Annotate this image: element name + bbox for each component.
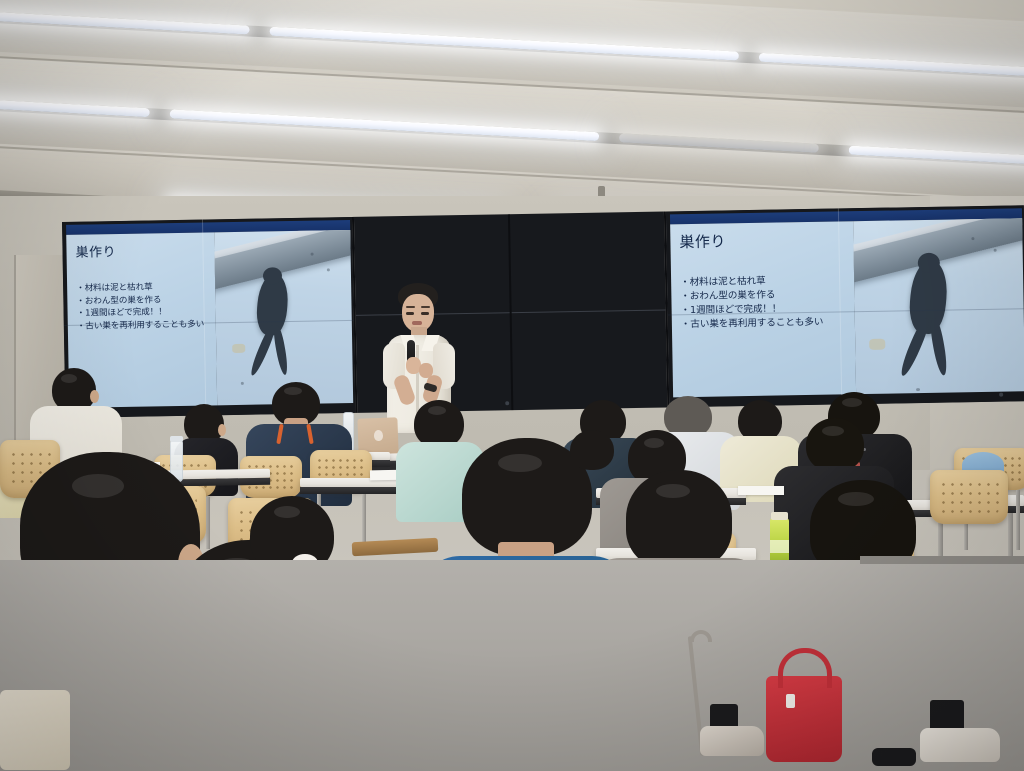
hair-highlight — [644, 438, 664, 448]
person-head — [806, 418, 864, 472]
person-head — [626, 470, 732, 570]
apple-logo-icon — [374, 430, 383, 441]
hair-highlight — [498, 454, 542, 472]
swallow-tail-feather — [928, 317, 949, 376]
beige-trousers — [0, 690, 70, 770]
chair-backrest — [930, 470, 1008, 524]
hair-highlight — [428, 406, 446, 415]
slide-bullet: ・古い巣を再利用することも多い — [77, 318, 213, 333]
slide-body: 巣作り ・材料は泥と枯れ草 ・おわん型の巣を作る ・1週間ほどで完成！！ ・古い… — [670, 218, 1024, 397]
person-ear — [90, 390, 99, 403]
presenter-eyebrow — [421, 306, 430, 308]
hair-highlight — [61, 374, 77, 383]
hair-highlight — [656, 484, 690, 498]
floor — [0, 560, 1024, 771]
attendee-back-small — [560, 430, 630, 520]
panel-power-led — [999, 393, 1003, 397]
shoe — [700, 726, 764, 756]
panel-power-led — [505, 401, 509, 405]
presenter-eye — [406, 312, 414, 315]
chair-perforations — [939, 480, 999, 514]
photo-speck — [916, 388, 920, 391]
video-wall: 巣作り ・材料は泥と枯れ草 ・おわん型の巣を作る ・1週間ほどで完成！！ ・古い… — [62, 205, 1024, 418]
slide-title: 巣作り — [679, 228, 848, 252]
presenter-eye — [421, 312, 429, 315]
hair-highlight — [274, 506, 300, 518]
hair-highlight — [822, 426, 844, 436]
person-ear — [218, 424, 226, 436]
presenter-description: Man in a white short-sleeve shirt holdin… — [381, 283, 382, 284]
red-handbag[interactable] — [766, 676, 842, 762]
hair-highlight — [838, 492, 874, 506]
sneaker — [920, 728, 1000, 762]
chair-leg — [1016, 490, 1020, 550]
baseboard — [860, 556, 1024, 564]
photo-speck — [310, 253, 313, 256]
hair-highlight — [842, 398, 862, 407]
chair[interactable] — [310, 450, 372, 502]
presenter-mouth — [412, 321, 422, 325]
photo-speck — [994, 249, 997, 252]
lecture-hall-photo: 巣作り ・材料は泥と枯れ草 ・おわん型の巣を作る ・1週間ほどで完成！！ ・古い… — [0, 0, 1024, 771]
slide-right: 巣作り ・材料は泥と枯れ草 ・おわん型の巣を作る ・1週間ほどで完成！！ ・古い… — [666, 205, 1024, 407]
chair[interactable] — [930, 470, 1008, 534]
slide-title: 巣作り — [75, 239, 209, 260]
presenter-hand — [419, 363, 433, 378]
slide-swallow-photo — [214, 230, 353, 405]
swallow-tail-feather — [272, 325, 290, 376]
presenter-eyebrow — [406, 306, 415, 308]
hair-highlight — [72, 474, 124, 498]
right-display-panel[interactable]: 巣作り ・材料は泥と枯れ草 ・おわん型の巣を作る ・1週間ほどで完成！！ ・古い… — [666, 205, 1024, 407]
bottle-cap — [170, 436, 183, 442]
slide-text-column: 巣作り ・材料は泥と枯れ草 ・おわん型の巣を作る ・1週間ほどで完成！！ ・古い… — [670, 221, 856, 397]
handbag-tag — [786, 694, 795, 708]
slide-bullet: ・古い巣を再利用することも多い — [681, 315, 852, 332]
slide-swallow-photo — [853, 218, 1024, 394]
photo-debris — [232, 344, 245, 353]
slide-bullet-list: ・材料は泥と枯れ草 ・おわん型の巣を作る ・1週間ほどで完成！！ ・古い巣を再利… — [680, 273, 852, 332]
photo-debris — [869, 339, 885, 350]
photo-speck — [240, 382, 243, 385]
hair-highlight — [284, 387, 302, 395]
chair-leg — [362, 492, 366, 544]
shoe — [872, 748, 916, 766]
photo-speck — [327, 268, 330, 271]
swallow-head — [262, 267, 281, 284]
person-head — [570, 430, 614, 470]
